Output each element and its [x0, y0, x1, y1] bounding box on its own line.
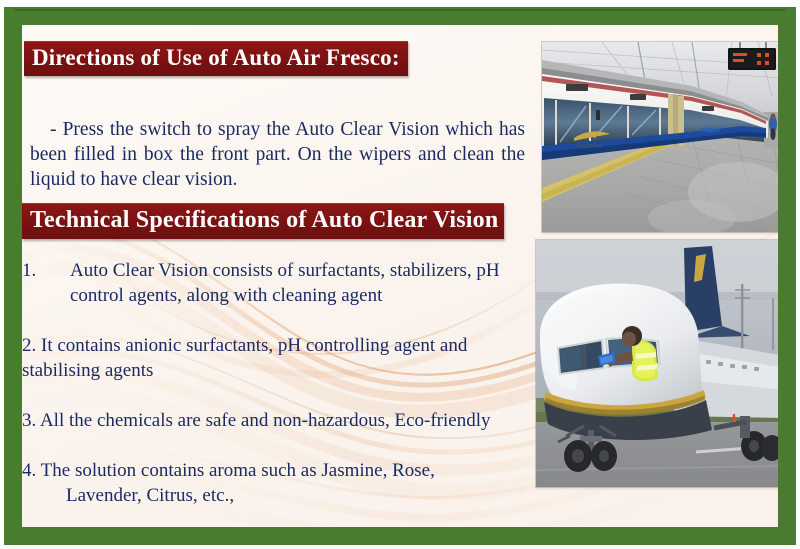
spec-4-line-1: 4. The solution contains aroma such as J… [22, 460, 435, 481]
spec-1-number: 1. [22, 258, 36, 283]
heading-directions-of-use: Directions of Use of Auto Air Fresco: [24, 41, 408, 76]
image-aircraft-windshield-cleaning [536, 240, 778, 487]
slide-root: Directions of Use of Auto Air Fresco: - … [0, 0, 800, 549]
image-train-at-station-platform: GAUTRAIN [542, 42, 778, 232]
heading-technical-specifications: Technical Specifications of Auto Clear V… [22, 203, 504, 239]
paragraph-directions-of-use: - Press the switch to spray the Auto Cle… [30, 117, 525, 192]
svg-text:GAUTRAIN: GAUTRAIN [576, 144, 602, 150]
spec-list-item-1: 1. Auto Clear Vision consists of surfact… [22, 258, 542, 308]
spec-4-line-2: Lavender, Citrus, etc., [22, 483, 542, 508]
spec-list-item-3: 3. All the chemicals are safe and non-ha… [22, 408, 542, 433]
frame-hairline [14, 9, 786, 11]
slide-canvas: Directions of Use of Auto Air Fresco: - … [22, 25, 778, 527]
slide-content: Directions of Use of Auto Air Fresco: - … [22, 25, 778, 527]
spec-list-item-4: 4. The solution contains aroma such as J… [22, 458, 542, 508]
spec-list-item-2: 2. It contains anionic surfactants, pH c… [22, 333, 542, 383]
spec-1-text: Auto Clear Vision consists of surfactant… [70, 258, 542, 308]
